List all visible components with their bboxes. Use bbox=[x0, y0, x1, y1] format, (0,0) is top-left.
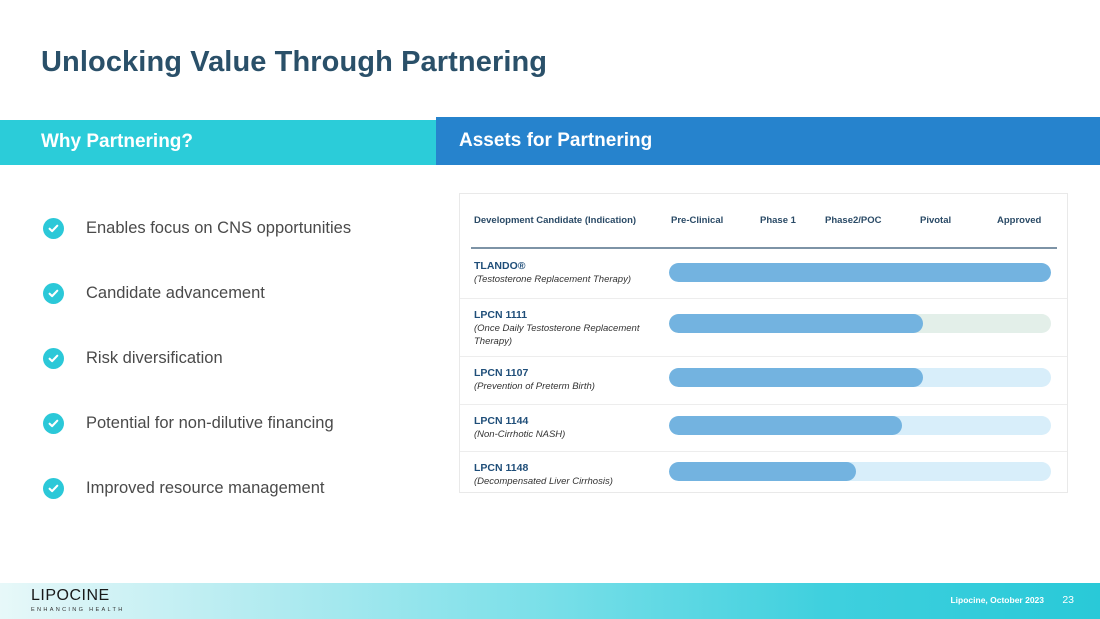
footer-credit: Lipocine, October 2023 bbox=[950, 595, 1044, 605]
check-circle-icon bbox=[43, 348, 64, 369]
check-circle-icon bbox=[43, 283, 64, 304]
why-partnering-list: Enables focus on CNS opportunities Candi… bbox=[43, 196, 433, 521]
column-header-phase-1: Phase 1 bbox=[760, 215, 796, 226]
list-item-label: Enables focus on CNS opportunities bbox=[86, 219, 351, 238]
asset-name: LPCN 1107 bbox=[474, 367, 654, 380]
table-row: LPCN 1107 (Prevention of Preterm Birth) bbox=[460, 357, 1067, 405]
asset-indication: (Prevention of Preterm Birth) bbox=[474, 381, 654, 394]
column-header-candidate: Development Candidate (Indication) bbox=[474, 215, 636, 226]
asset-label-group: LPCN 1111 (Once Daily Testosterone Repla… bbox=[474, 309, 654, 348]
page-title: Unlocking Value Through Partnering bbox=[41, 46, 547, 79]
section-label-assets-for-partnering: Assets for Partnering bbox=[459, 130, 652, 152]
asset-indication: (Decompensated Liver Cirrhosis) bbox=[474, 476, 654, 489]
progress-track bbox=[669, 462, 1051, 481]
list-item-label: Risk diversification bbox=[86, 349, 223, 368]
header-divider bbox=[471, 247, 1057, 249]
asset-name: LPCN 1148 bbox=[474, 462, 654, 475]
list-item: Risk diversification bbox=[43, 326, 433, 391]
page-number: 23 bbox=[1062, 594, 1074, 606]
progress-track bbox=[669, 416, 1051, 435]
table-row: LPCN 1144 (Non-Cirrhotic NASH) bbox=[460, 405, 1067, 452]
asset-label-group: LPCN 1148 (Decompensated Liver Cirrhosis… bbox=[474, 462, 654, 489]
check-circle-icon bbox=[43, 218, 64, 239]
table-row: LPCN 1111 (Once Daily Testosterone Repla… bbox=[460, 299, 1067, 357]
asset-indication: (Non-Cirrhotic NASH) bbox=[474, 429, 654, 442]
asset-name: LPCN 1144 bbox=[474, 415, 654, 428]
progress-fill bbox=[669, 462, 856, 481]
progress-fill bbox=[669, 368, 923, 387]
slide-footer: LIPOCINE ENHANCING HEALTH Lipocine, Octo… bbox=[0, 583, 1100, 619]
progress-fill bbox=[669, 314, 923, 333]
logo-tagline: ENHANCING HEALTH bbox=[31, 607, 125, 613]
progress-track bbox=[669, 263, 1051, 282]
asset-name: TLANDO® bbox=[474, 260, 654, 273]
pipeline-column-headers: Development Candidate (Indication) Pre-C… bbox=[460, 194, 1067, 242]
check-circle-icon bbox=[43, 478, 64, 499]
lipocine-logo: LIPOCINE ENHANCING HEALTH bbox=[31, 588, 125, 613]
column-header-phase2-poc: Phase2/POC bbox=[825, 215, 882, 226]
list-item: Improved resource management bbox=[43, 456, 433, 521]
asset-label-group: TLANDO® (Testosterone Replacement Therap… bbox=[474, 260, 654, 287]
asset-label-group: LPCN 1144 (Non-Cirrhotic NASH) bbox=[474, 415, 654, 442]
asset-label-group: LPCN 1107 (Prevention of Preterm Birth) bbox=[474, 367, 654, 394]
pipeline-rows: TLANDO® (Testosterone Replacement Therap… bbox=[460, 250, 1067, 498]
asset-name: LPCN 1111 bbox=[474, 309, 654, 322]
asset-indication: (Once Daily Testosterone Replacement The… bbox=[474, 323, 654, 348]
column-header-pivotal: Pivotal bbox=[920, 215, 951, 226]
logo-wordmark: LIPOCINE bbox=[31, 588, 125, 604]
list-item-label: Improved resource management bbox=[86, 479, 324, 498]
table-row: LPCN 1148 (Decompensated Liver Cirrhosis… bbox=[460, 452, 1067, 498]
list-item: Candidate advancement bbox=[43, 261, 433, 326]
pipeline-chart-card: Development Candidate (Indication) Pre-C… bbox=[459, 193, 1068, 493]
list-item: Potential for non-dilutive financing bbox=[43, 391, 433, 456]
progress-track bbox=[669, 368, 1051, 387]
list-item: Enables focus on CNS opportunities bbox=[43, 196, 433, 261]
progress-fill bbox=[669, 263, 1051, 282]
section-label-why-partnering: Why Partnering? bbox=[41, 131, 193, 153]
progress-track bbox=[669, 314, 1051, 333]
column-header-approved: Approved bbox=[997, 215, 1041, 226]
progress-fill bbox=[669, 416, 902, 435]
table-row: TLANDO® (Testosterone Replacement Therap… bbox=[460, 250, 1067, 299]
list-item-label: Candidate advancement bbox=[86, 284, 265, 303]
column-header-pre-clinical: Pre-Clinical bbox=[671, 215, 723, 226]
asset-indication: (Testosterone Replacement Therapy) bbox=[474, 274, 654, 287]
list-item-label: Potential for non-dilutive financing bbox=[86, 414, 334, 433]
check-circle-icon bbox=[43, 413, 64, 434]
